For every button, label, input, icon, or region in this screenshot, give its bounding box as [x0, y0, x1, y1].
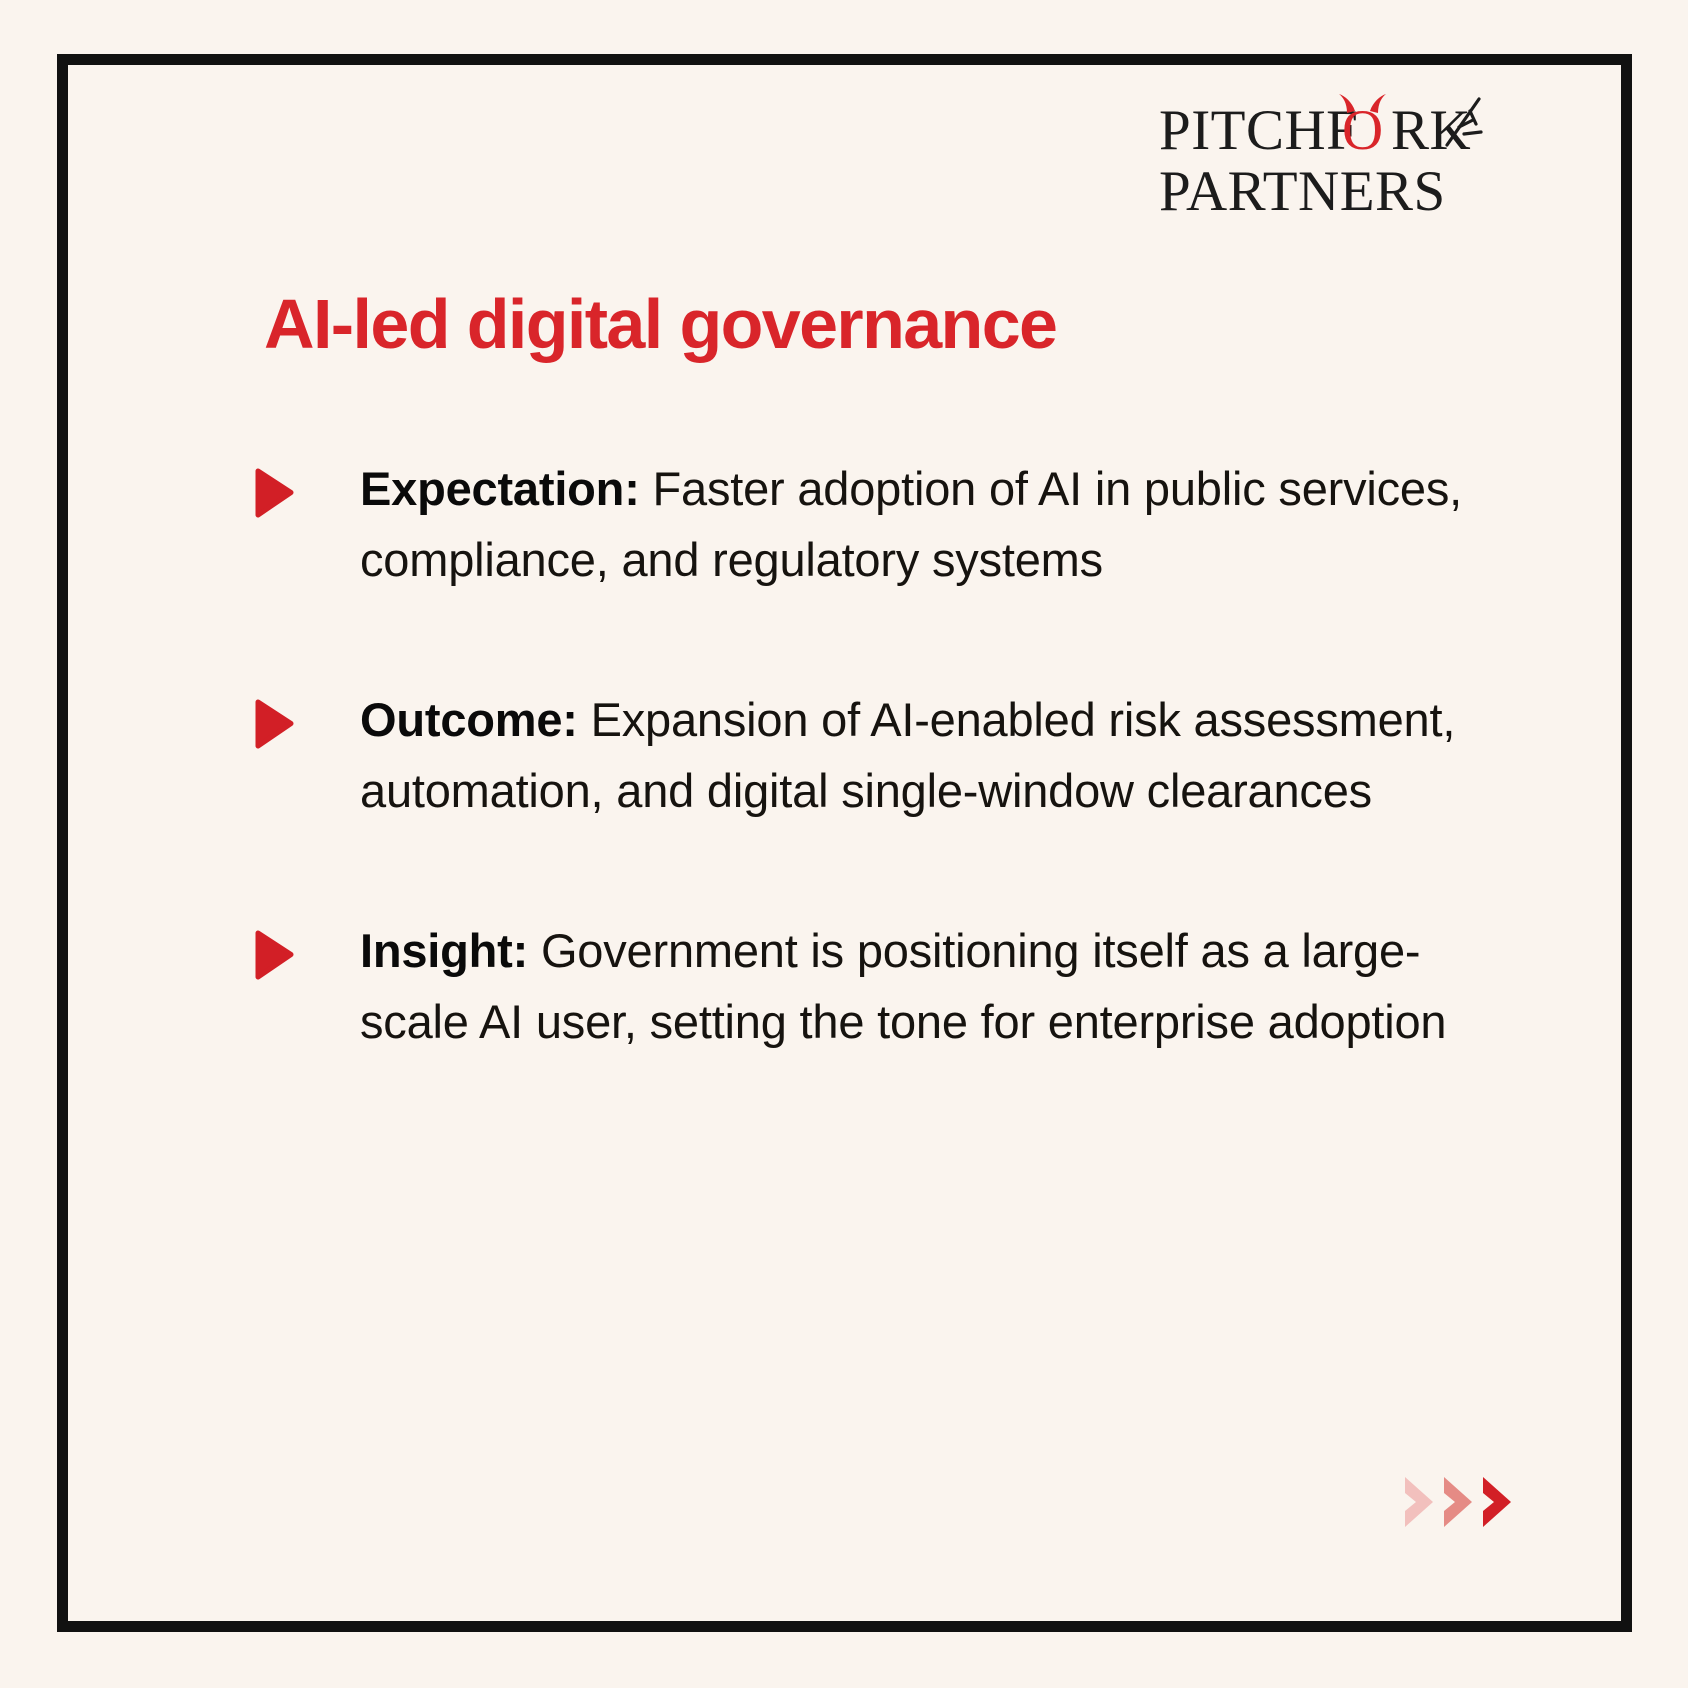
page-title: AI-led digital governance [264, 286, 1056, 363]
play-triangle-icon [254, 698, 304, 750]
list-item-lead: Expectation: [360, 462, 640, 515]
next-chevrons[interactable] [1403, 1475, 1515, 1529]
list-item: Insight: Government is positioning itsel… [254, 915, 1464, 1058]
chevron-right-icon-3 [1481, 1475, 1515, 1529]
poster-card: PITCHF O RK PARTNERS AI-led digital gove… [57, 54, 1632, 1632]
play-triangle-icon [254, 467, 304, 519]
list-item-text: Expectation: Faster adoption of AI in pu… [360, 453, 1464, 596]
chevron-right-icon-1 [1403, 1475, 1437, 1529]
svg-text:PITCHF: PITCHF [1159, 99, 1358, 162]
play-triangle-icon [254, 929, 304, 981]
svg-text:PARTNERS: PARTNERS [1159, 160, 1446, 222]
pitchfork-partners-logo: PITCHF O RK PARTNERS [1159, 87, 1489, 222]
chevron-right-icon-2 [1442, 1475, 1476, 1529]
svg-text:RK: RK [1391, 99, 1471, 162]
list-item-text: Outcome: Expansion of AI-enabled risk as… [360, 684, 1464, 827]
list-item-lead: Insight: [360, 924, 528, 977]
list-item: Expectation: Faster adoption of AI in pu… [254, 453, 1464, 596]
list-item: Outcome: Expansion of AI-enabled risk as… [254, 684, 1464, 827]
list-item-text: Insight: Government is positioning itsel… [360, 915, 1464, 1058]
list-item-lead: Outcome: [360, 693, 578, 746]
bullet-list: Expectation: Faster adoption of AI in pu… [254, 453, 1464, 1058]
